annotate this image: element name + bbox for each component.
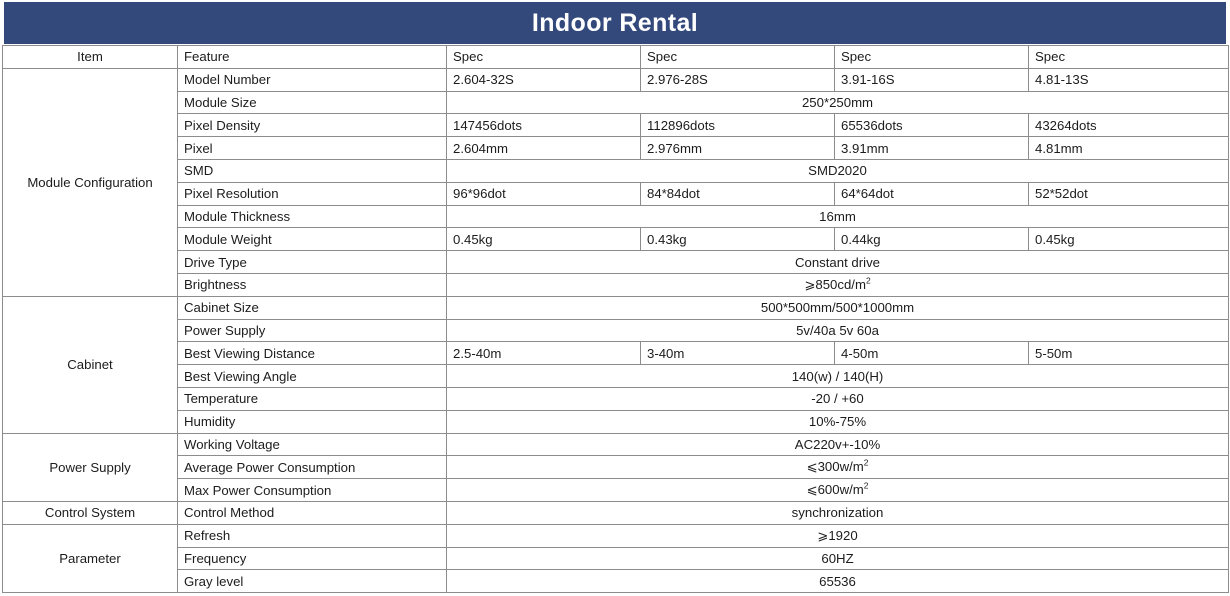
table-row: Humidity10%-75% (3, 410, 1229, 433)
spec-value: 96*96dot (447, 182, 641, 205)
spec-value-merged: 60HZ (447, 547, 1229, 570)
feature-label: Working Voltage (178, 433, 447, 456)
spec-value: 64*64dot (835, 182, 1029, 205)
spec-value: 52*52dot (1029, 182, 1229, 205)
item-group-label: Cabinet (3, 296, 178, 433)
table-row: Brightness⩾850cd/m2 (3, 273, 1229, 296)
spec-sheet-page: Indoor Rental ItemFeatureSpecSpecSpecSpe… (0, 0, 1230, 596)
table-row: Best Viewing Angle140(w) / 140(H) (3, 365, 1229, 388)
table-row: ParameterRefresh⩾1920 (3, 524, 1229, 547)
feature-label: Frequency (178, 547, 447, 570)
table-row: Max Power Consumption⩽600w/m2 (3, 479, 1229, 502)
spec-value-merged: Constant drive (447, 251, 1229, 274)
table-header-row: ItemFeatureSpecSpecSpecSpec (3, 46, 1229, 69)
feature-label: Module Size (178, 91, 447, 114)
table-row: Average Power Consumption⩽300w/m2 (3, 456, 1229, 479)
table-row: Module ConfigurationModel Number2.604-32… (3, 68, 1229, 91)
column-header-spec-1: Spec (447, 46, 641, 69)
item-group-label: Parameter (3, 524, 178, 592)
table-body: ItemFeatureSpecSpecSpecSpecModule Config… (3, 46, 1229, 593)
table-row: Pixel Resolution96*96dot84*84dot64*64dot… (3, 182, 1229, 205)
table-row: Best Viewing Distance2.5-40m3-40m4-50m5-… (3, 342, 1229, 365)
column-header-feature: Feature (178, 46, 447, 69)
spec-value: 147456dots (447, 114, 641, 137)
feature-label: Drive Type (178, 251, 447, 274)
table-row: Control SystemControl Methodsynchronizat… (3, 501, 1229, 524)
spec-value: 5-50m (1029, 342, 1229, 365)
feature-label: Refresh (178, 524, 447, 547)
spec-value: 112896dots (641, 114, 835, 137)
spec-value: 2.604-32S (447, 68, 641, 91)
feature-label: Module Thickness (178, 205, 447, 228)
spec-value-merged: 65536 (447, 570, 1229, 593)
table-row: Power Supply5v/40a 5v 60a (3, 319, 1229, 342)
item-group-label: Power Supply (3, 433, 178, 501)
spec-value: 2.976-28S (641, 68, 835, 91)
feature-label: Best Viewing Angle (178, 365, 447, 388)
spec-value-merged: ⩽300w/m2 (447, 456, 1229, 479)
column-header-spec-4: Spec (1029, 46, 1229, 69)
table-row: CabinetCabinet Size500*500mm/500*1000mm (3, 296, 1229, 319)
table-row: Frequency60HZ (3, 547, 1229, 570)
superscript: 2 (864, 458, 869, 468)
feature-label: Average Power Consumption (178, 456, 447, 479)
spec-value-merged: ⩾1920 (447, 524, 1229, 547)
spec-value-merged: ⩽600w/m2 (447, 479, 1229, 502)
spec-value: 2.5-40m (447, 342, 641, 365)
feature-label: Pixel Density (178, 114, 447, 137)
spec-value: 3.91mm (835, 137, 1029, 160)
spec-value: 0.44kg (835, 228, 1029, 251)
feature-label: Temperature (178, 387, 447, 410)
table-row: Temperature-20 / +60 (3, 387, 1229, 410)
spec-value: 2.604mm (447, 137, 641, 160)
table-row: Pixel Density147456dots112896dots65536do… (3, 114, 1229, 137)
spec-value-merged: SMD2020 (447, 159, 1229, 182)
spec-value: 3.91-16S (835, 68, 1029, 91)
feature-label: Module Weight (178, 228, 447, 251)
spec-value-merged: AC220v+-10% (447, 433, 1229, 456)
table-row: SMDSMD2020 (3, 159, 1229, 182)
spec-value: 4.81mm (1029, 137, 1229, 160)
spec-value-merged: ⩾850cd/m2 (447, 273, 1229, 296)
feature-label: SMD (178, 159, 447, 182)
spec-value: 0.45kg (447, 228, 641, 251)
feature-label: Power Supply (178, 319, 447, 342)
spec-value-merged: 140(w) / 140(H) (447, 365, 1229, 388)
feature-label: Max Power Consumption (178, 479, 447, 502)
feature-label: Pixel Resolution (178, 182, 447, 205)
feature-label: Brightness (178, 273, 447, 296)
spec-value: 2.976mm (641, 137, 835, 160)
spec-value-merged: -20 / +60 (447, 387, 1229, 410)
spec-value-merged: 10%-75% (447, 410, 1229, 433)
table-row: Drive TypeConstant drive (3, 251, 1229, 274)
item-group-label: Module Configuration (3, 68, 178, 296)
spec-value-merged: 250*250mm (447, 91, 1229, 114)
table-row: Gray level65536 (3, 570, 1229, 593)
feature-label: Cabinet Size (178, 296, 447, 319)
page-title: Indoor Rental (532, 11, 698, 36)
superscript: 2 (864, 481, 869, 491)
table-row: Module Thickness16mm (3, 205, 1229, 228)
table-row: Power SupplyWorking VoltageAC220v+-10% (3, 433, 1229, 456)
column-header-spec-2: Spec (641, 46, 835, 69)
spec-value-merged: 5v/40a 5v 60a (447, 319, 1229, 342)
feature-label: Model Number (178, 68, 447, 91)
feature-label: Best Viewing Distance (178, 342, 447, 365)
table-row: Module Size250*250mm (3, 91, 1229, 114)
feature-label: Gray level (178, 570, 447, 593)
feature-label: Control Method (178, 501, 447, 524)
spec-value: 65536dots (835, 114, 1029, 137)
specification-table: ItemFeatureSpecSpecSpecSpecModule Config… (2, 45, 1229, 593)
spec-value: 3-40m (641, 342, 835, 365)
column-header-spec-3: Spec (835, 46, 1029, 69)
spec-value: 0.43kg (641, 228, 835, 251)
table-row: Module Weight0.45kg0.43kg0.44kg0.45kg (3, 228, 1229, 251)
spec-value: 4-50m (835, 342, 1029, 365)
table-row: Pixel2.604mm2.976mm3.91mm4.81mm (3, 137, 1229, 160)
spec-value-merged: 16mm (447, 205, 1229, 228)
spec-value: 84*84dot (641, 182, 835, 205)
spec-value-merged: 500*500mm/500*1000mm (447, 296, 1229, 319)
superscript: 2 (866, 275, 871, 285)
feature-label: Humidity (178, 410, 447, 433)
item-group-label: Control System (3, 501, 178, 524)
column-header-item: Item (3, 46, 178, 69)
spec-value-merged: synchronization (447, 501, 1229, 524)
spec-value: 0.45kg (1029, 228, 1229, 251)
spec-value: 4.81-13S (1029, 68, 1229, 91)
feature-label: Pixel (178, 137, 447, 160)
spec-value: 43264dots (1029, 114, 1229, 137)
title-banner: Indoor Rental (4, 2, 1226, 44)
